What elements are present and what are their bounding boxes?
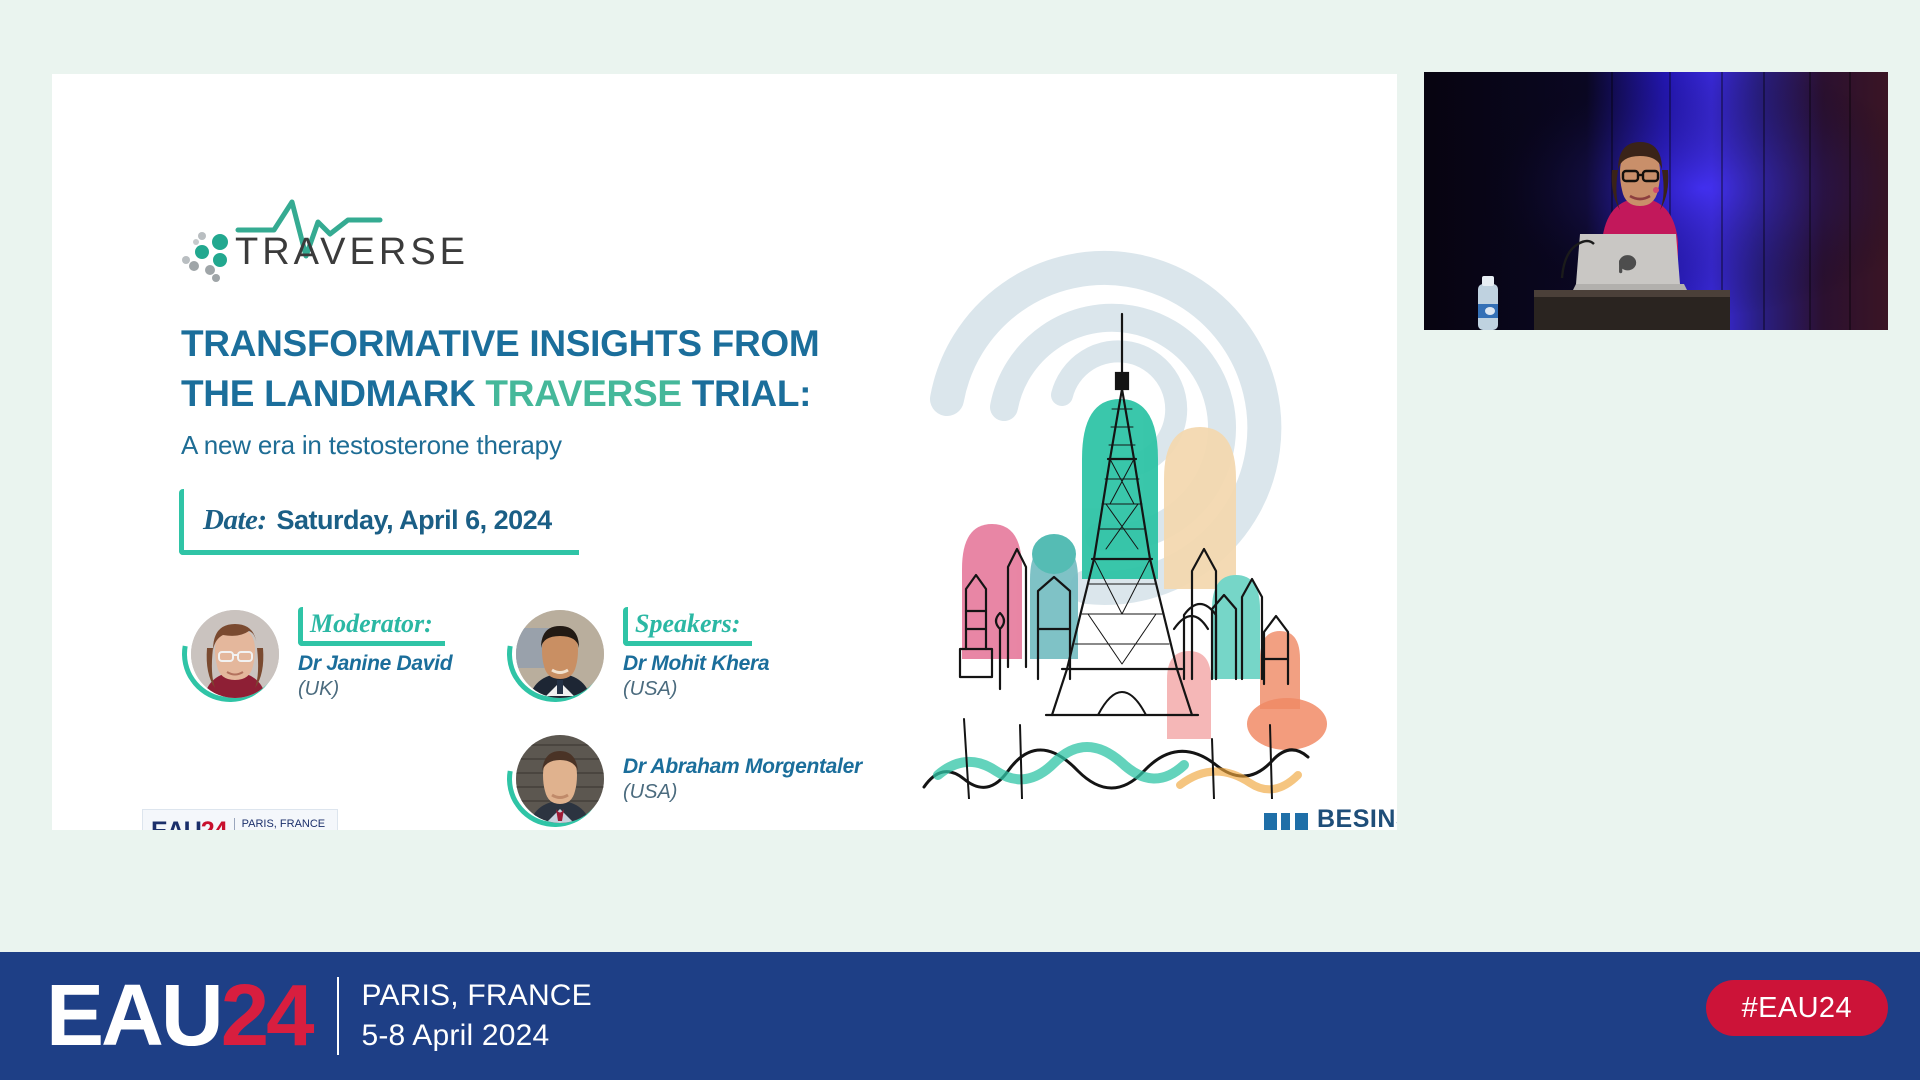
date-row: Date: Saturday, April 6, 2024 bbox=[179, 489, 579, 555]
avatar bbox=[507, 729, 607, 829]
avatar-janine-david bbox=[191, 610, 279, 698]
banner-year-text: 24 bbox=[221, 972, 312, 1060]
banner-dates: 5-8 April 2024 bbox=[361, 1016, 591, 1056]
eau24-slide-logo: EAU 24 PARIS, FRANCE 5-8 April 2024 Cutt… bbox=[142, 809, 338, 830]
eau-year: 24 bbox=[201, 817, 227, 831]
moderator-role-bracket: Moderator: bbox=[298, 607, 445, 646]
speaker-country: (USA) bbox=[623, 678, 769, 701]
eau-text: EAU bbox=[151, 817, 201, 831]
title-line-1: TRANSFORMATIVE INSIGHTS FROM bbox=[181, 319, 921, 369]
title-line-2-pre: THE LANDMARK bbox=[181, 373, 485, 414]
avatar-abraham-morgentaler bbox=[516, 735, 604, 823]
bottom-banner: EAU 24 PARIS, FRANCE 5-8 April 2024 #EAU… bbox=[0, 952, 1920, 1080]
moderator-country: (UK) bbox=[298, 678, 452, 701]
title-line-2: THE LANDMARK TRAVERSE TRIAL: bbox=[181, 369, 921, 419]
speaker-entry: Speakers: Dr Mohit Khera (USA) bbox=[507, 604, 769, 704]
speakers-info: Speakers: Dr Mohit Khera (USA) bbox=[623, 607, 769, 701]
avatar-mohit-khera bbox=[516, 610, 604, 698]
besins-name: BESINS bbox=[1317, 807, 1397, 830]
eau-location: PARIS, FRANCE bbox=[242, 818, 326, 830]
title-line-2-accent: TRAVERSE bbox=[485, 373, 681, 414]
besins-healthcare-logo: BESINS HEALTHCARE By your side, for life bbox=[1264, 807, 1397, 830]
avatar bbox=[182, 604, 282, 704]
avatar bbox=[507, 604, 607, 704]
presentation-slide[interactable]: TRAVERSE TRANSFORMATIVE INSIGHTS FROM TH… bbox=[52, 74, 1397, 830]
banner-location: PARIS, FRANCE bbox=[361, 976, 591, 1016]
banner-eau-text: EAU bbox=[46, 972, 221, 1060]
banner-event-details: PARIS, FRANCE 5-8 April 2024 bbox=[361, 976, 591, 1056]
speaker-info-2: Dr Abraham Morgentaler (USA) bbox=[623, 755, 862, 804]
moderator-info: Moderator: Dr Janine David (UK) bbox=[298, 607, 452, 701]
eau24-slide-logo-top: EAU 24 PARIS, FRANCE 5-8 April 2024 bbox=[151, 817, 329, 831]
divider bbox=[234, 818, 235, 830]
speakers-role-label: Speakers: bbox=[635, 609, 740, 638]
traverse-logo: TRAVERSE bbox=[180, 194, 500, 286]
besins-mark-icon bbox=[1264, 813, 1308, 831]
speaker-name: Dr Abraham Morgentaler bbox=[623, 755, 862, 779]
slide-title-block: TRANSFORMATIVE INSIGHTS FROM THE LANDMAR… bbox=[181, 319, 921, 463]
speakers-role-bracket: Speakers: bbox=[623, 607, 752, 646]
moderator-role-label: Moderator: bbox=[310, 609, 433, 638]
speaker-country: (USA) bbox=[623, 781, 862, 804]
moderator-entry: Moderator: Dr Janine David (UK) bbox=[182, 604, 452, 704]
eau-details: PARIS, FRANCE 5-8 April 2024 bbox=[242, 818, 326, 830]
date-label: Date: bbox=[203, 504, 267, 537]
eau24-banner-logo: EAU 24 PARIS, FRANCE 5-8 April 2024 bbox=[46, 972, 592, 1060]
speaker-name: Dr Mohit Khera bbox=[623, 652, 769, 676]
paris-skyline-illustration bbox=[912, 159, 1332, 799]
title-line-2-post: TRIAL: bbox=[682, 373, 811, 414]
hashtag-text: #EAU24 bbox=[1742, 992, 1852, 1025]
banner-divider bbox=[337, 977, 339, 1055]
date-value: Saturday, April 6, 2024 bbox=[277, 505, 552, 536]
presenter-video-thumbnail[interactable] bbox=[1424, 72, 1888, 330]
hashtag-badge[interactable]: #EAU24 bbox=[1706, 980, 1888, 1036]
slide-subtitle: A new era in testosterone therapy bbox=[181, 427, 921, 463]
besins-text: BESINS HEALTHCARE By your side, for life bbox=[1317, 807, 1397, 830]
svg-text:TRAVERSE: TRAVERSE bbox=[235, 231, 469, 273]
moderator-name: Dr Janine David bbox=[298, 652, 452, 676]
